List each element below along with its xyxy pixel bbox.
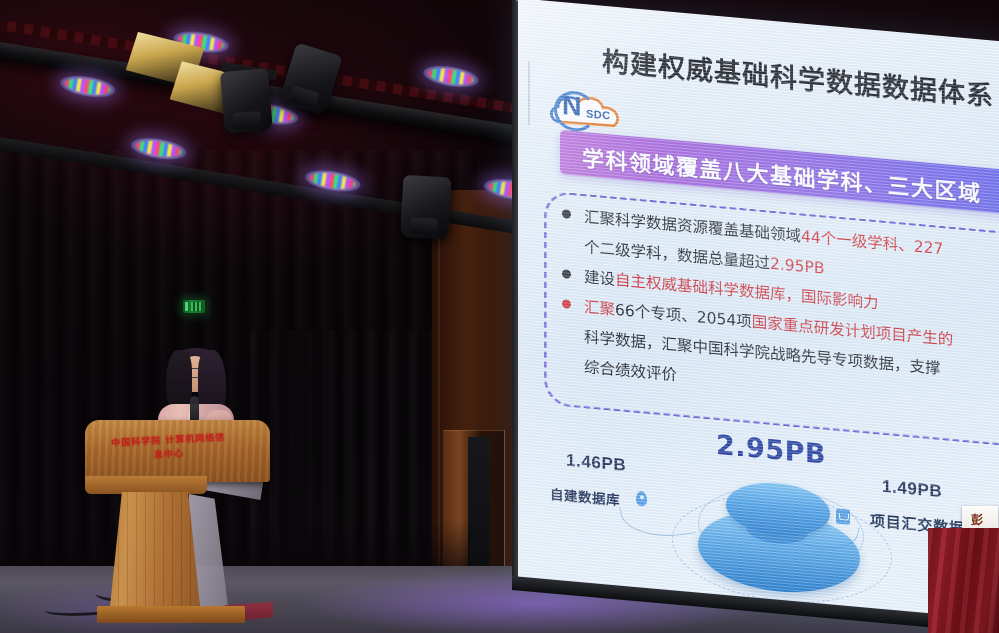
inbox-icon [836,509,850,525]
head-table: 彭 [928,506,999,633]
bullet-marker [562,299,571,309]
logo-letter: N [562,92,582,121]
screen-bezel-left [512,0,518,591]
lectern-base [97,606,245,623]
moving-head-light [220,68,273,134]
slide-divider [528,61,530,125]
bullet-text-segment: 2.95PB [770,255,825,278]
presentation-screen: N SDC 构建权威基础科学数据数据体系 学科领域覆盖八大基础学科、三大区域 汇… [516,0,999,629]
slide-title: 构建权威基础科学数据数据体系 [602,40,999,117]
bullet-marker [562,209,571,219]
bullet-text-segment: 汇聚 [584,298,615,319]
table-cloth [928,528,999,633]
left-data-value: 1.46PB [566,450,626,475]
moving-head-light [400,175,451,240]
par-led-light [422,62,480,91]
right-data-value: 1.49PB [882,477,942,502]
map-pin-icon [636,491,647,507]
left-data-label: 自建数据库 [550,483,620,509]
exit-sign [183,300,205,313]
name-card-text: 彭 [971,511,983,528]
bullet-marker [562,269,571,279]
bullet-text-segment: 建设 [584,268,615,289]
lectern: 中国科学院 计算机网络信息中心 [85,420,270,620]
lectern-lip [85,476,207,494]
total-data-value: 2.95PB [716,430,826,471]
auditorium-scene: 中国科学院 计算机网络信息中心 N SDC 构建权威基础科学数据数据体系 [0,0,999,633]
bullet-text-segment: 综合绩效评价 [584,358,677,384]
lectern-institution-text: 中国科学院 计算机网络信息中心 [110,431,228,477]
logo-wordmark: SDC [586,108,610,122]
lectern-column [109,492,201,616]
